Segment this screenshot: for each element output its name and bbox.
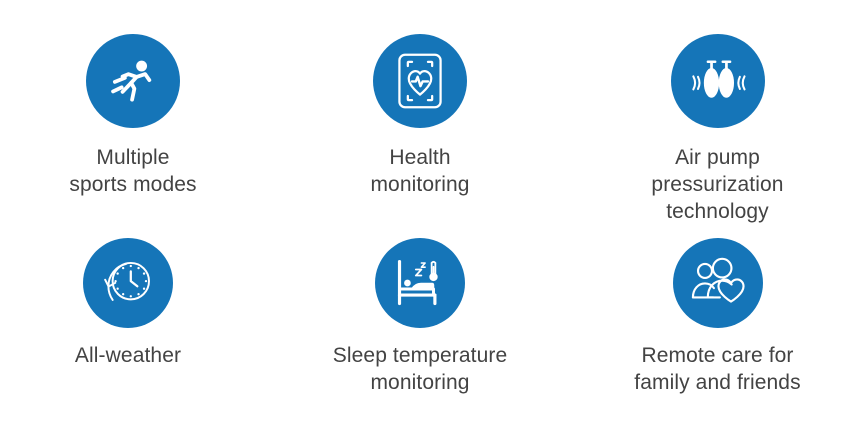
running-person-icon	[104, 52, 162, 110]
icon-badge-remote-care	[673, 238, 763, 328]
icon-badge-air-pump	[671, 34, 765, 128]
feature-label-sleep-temperature: Sleep temperature monitoring	[333, 343, 507, 397]
icon-badge-health-monitoring	[373, 34, 467, 128]
feature-item-sports-modes: Multiple sports modes	[26, 34, 240, 199]
feature-label-sports-modes: Multiple sports modes	[69, 145, 196, 199]
feature-label-remote-care: Remote care for family and friends	[634, 343, 800, 397]
icon-badge-sports-modes	[86, 34, 180, 128]
feature-label-all-weather: All-weather	[75, 343, 181, 370]
feature-item-all-weather: All-weather	[21, 238, 235, 370]
feature-label-air-pump: Air pump pressurization technology	[651, 145, 783, 226]
people-heart-care-icon	[689, 257, 747, 309]
air-pump-cylinders-icon	[686, 54, 750, 108]
feature-grid: Multiple sports modes Health monitoring	[0, 0, 855, 424]
feature-item-remote-care: Remote care for family and friends	[595, 238, 840, 397]
feature-item-air-pump: Air pump pressurization technology	[600, 34, 835, 226]
feature-item-health-monitoring: Health monitoring	[315, 34, 525, 199]
icon-badge-all-weather	[83, 238, 173, 328]
clock-refresh-icon	[100, 255, 156, 311]
feature-item-sleep-temperature: Sleep temperature monitoring	[300, 238, 540, 397]
bed-sleep-thermometer-icon	[391, 256, 449, 310]
feature-label-health-monitoring: Health monitoring	[370, 145, 469, 199]
icon-badge-sleep-temperature	[375, 238, 465, 328]
heart-ecg-scan-icon	[395, 52, 445, 110]
